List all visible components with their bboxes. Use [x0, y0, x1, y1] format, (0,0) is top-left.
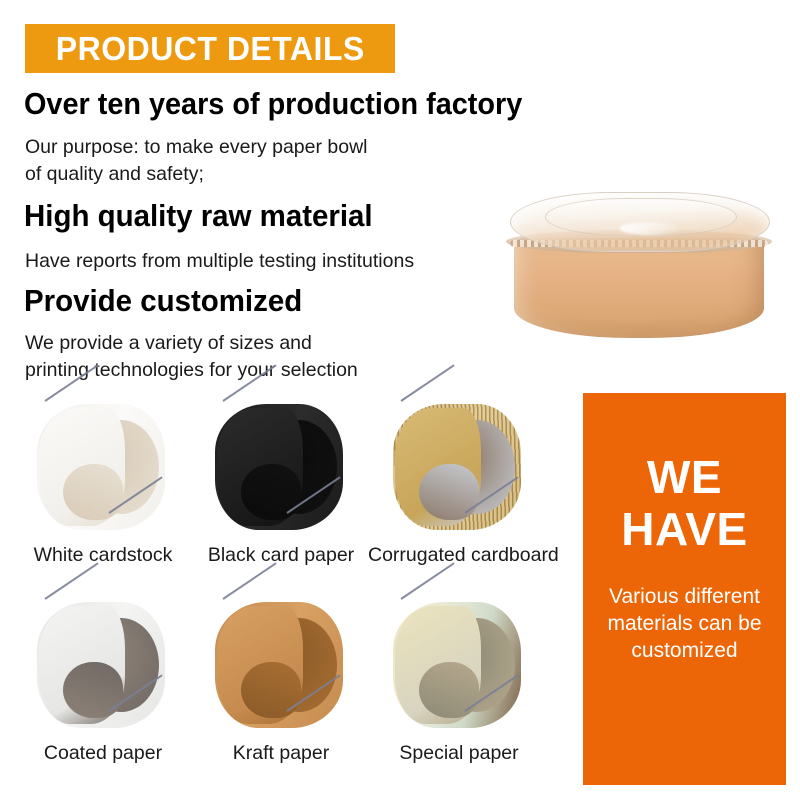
section-heading-raw-material: High quality raw material	[24, 200, 373, 231]
paper-roll-icon	[393, 602, 521, 728]
roll-fold	[419, 662, 479, 718]
swatch-label: Coated paper	[12, 742, 194, 765]
swatch-image	[379, 590, 539, 740]
section-body-line: Our purpose: to make every paper bowl	[25, 134, 368, 161]
roll-fold	[241, 662, 301, 718]
paper-roll-icon	[37, 404, 165, 530]
paper-roll-icon	[37, 602, 165, 728]
material-swatch-white-cardstock[interactable]: White cardstock	[12, 392, 194, 584]
swatch-image	[379, 392, 539, 542]
swatch-label: Corrugated cardboard	[368, 544, 550, 567]
material-swatch-black-card-paper[interactable]: Black card paper	[190, 392, 372, 584]
swatch-edge-line	[400, 364, 454, 401]
material-swatch-coated-paper[interactable]: Coated paper	[12, 590, 194, 782]
section-body-line: of quality and safety;	[25, 161, 368, 188]
section-body-purpose: Our purpose: to make every paper bowl of…	[25, 134, 368, 188]
material-swatch-kraft-paper[interactable]: Kraft paper	[190, 590, 372, 782]
banner-title: PRODUCT DETAILS	[55, 32, 364, 65]
roll-fold	[419, 464, 479, 520]
section-heading-provide-customized: Provide customized	[24, 285, 302, 316]
material-swatch-grid: White cardstock Black card paper Corruga…	[0, 392, 570, 792]
we-have-subtitle: Various different materials can be custo…	[583, 583, 786, 664]
swatch-image	[23, 392, 183, 542]
roll-fold	[63, 464, 123, 520]
we-have-line-2: HAVE	[621, 503, 747, 555]
section-heading-production-factory: Over ten years of production factory	[24, 88, 522, 119]
product-details-banner: PRODUCT DETAILS	[25, 24, 395, 73]
we-have-line-1: WE	[647, 451, 722, 503]
section-body-line: We provide a variety of sizes and	[25, 330, 358, 357]
bowl-body	[514, 238, 764, 338]
swatch-label: Kraft paper	[190, 742, 372, 765]
bowl-lid-highlight	[620, 222, 678, 235]
we-have-promo-panel: WE HAVE Various different materials can …	[583, 393, 786, 785]
paper-roll-icon	[393, 404, 521, 530]
section-body-line: Have reports from multiple testing insti…	[25, 248, 414, 275]
roll-fold	[63, 662, 123, 718]
section-body-reports: Have reports from multiple testing insti…	[25, 248, 414, 275]
swatch-image	[23, 590, 183, 740]
paper-roll-icon	[215, 602, 343, 728]
section-body-sizes: We provide a variety of sizes and printi…	[25, 330, 358, 384]
material-swatch-special-paper[interactable]: Special paper	[368, 590, 550, 782]
paper-roll-icon	[215, 404, 343, 530]
swatch-label: Special paper	[368, 742, 550, 765]
swatch-image	[201, 392, 361, 542]
swatch-label: Black card paper	[190, 544, 372, 567]
material-swatch-corrugated-cardboard[interactable]: Corrugated cardboard	[368, 392, 550, 584]
swatch-label: White cardstock	[12, 544, 194, 567]
product-photo-paper-bowl	[488, 186, 794, 346]
swatch-image	[201, 590, 361, 740]
roll-fold	[241, 464, 301, 520]
